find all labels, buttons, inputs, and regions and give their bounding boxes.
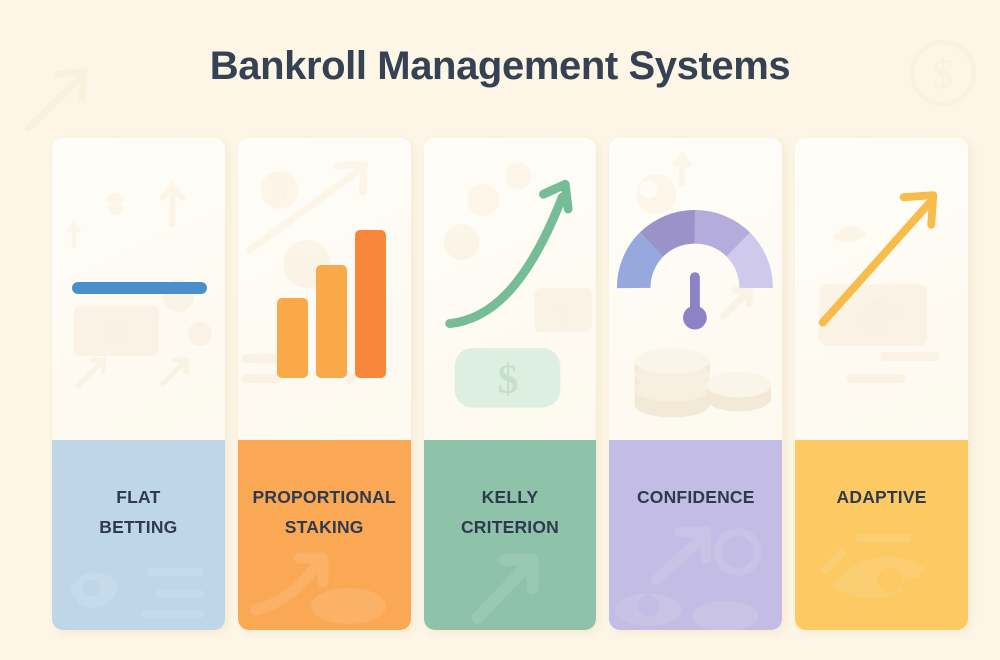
curved-growth-arrow-icon: $: [424, 138, 597, 440]
coin-stack-icon: [635, 348, 771, 417]
card-adaptive[interactable]: $: [795, 138, 968, 630]
card-kelly-criterion[interactable]: $ $: [424, 138, 597, 630]
card-footer-proportional-staking: PROPORTIONAL STAKING: [238, 440, 411, 630]
bar-1: [277, 298, 308, 378]
card-art-confidence: [609, 138, 782, 440]
card-footer-flat-betting: FLAT BETTING: [52, 440, 225, 630]
card-footer-confidence: CONFIDENCE: [609, 440, 782, 630]
card-label-flat-betting: FLAT BETTING: [58, 482, 219, 542]
card-confidence[interactable]: CONFIDENCE: [609, 138, 782, 630]
ascending-bar-chart-icon: [238, 138, 411, 440]
flat-line-icon: [52, 138, 225, 440]
card-art-kelly-criterion: $ $: [424, 138, 597, 440]
page-title: Bankroll Management Systems: [0, 44, 1000, 89]
card-label-adaptive: ADAPTIVE: [801, 482, 962, 512]
diagonal-growth-arrow-icon: [795, 138, 968, 440]
bar-3: [355, 230, 386, 378]
svg-text:$: $: [497, 356, 518, 402]
card-footer-adaptive: ADAPTIVE: [795, 440, 968, 630]
ghost-icons-footer-adaptive: [795, 440, 968, 630]
card-label-kelly-criterion: KELLY CRITERION: [430, 482, 591, 542]
dollar-bill-icon: $: [454, 348, 560, 407]
card-art-proportional-staking: $: [238, 138, 411, 440]
card-label-proportional-staking: PROPORTIONAL STAKING: [244, 482, 405, 542]
systems-card-row: FLAT BETTING $: [52, 138, 968, 630]
card-art-adaptive: $: [795, 138, 968, 440]
card-flat-betting[interactable]: FLAT BETTING: [52, 138, 225, 630]
gauge-meter-icon: [609, 138, 782, 440]
bar-2: [316, 265, 347, 378]
card-footer-kelly-criterion: KELLY CRITERION: [424, 440, 597, 630]
card-label-confidence: CONFIDENCE: [615, 482, 776, 512]
card-art-flat-betting: [52, 138, 225, 440]
ghost-icons-footer-confidence: [609, 440, 782, 630]
card-proportional-staking[interactable]: $: [238, 138, 411, 630]
